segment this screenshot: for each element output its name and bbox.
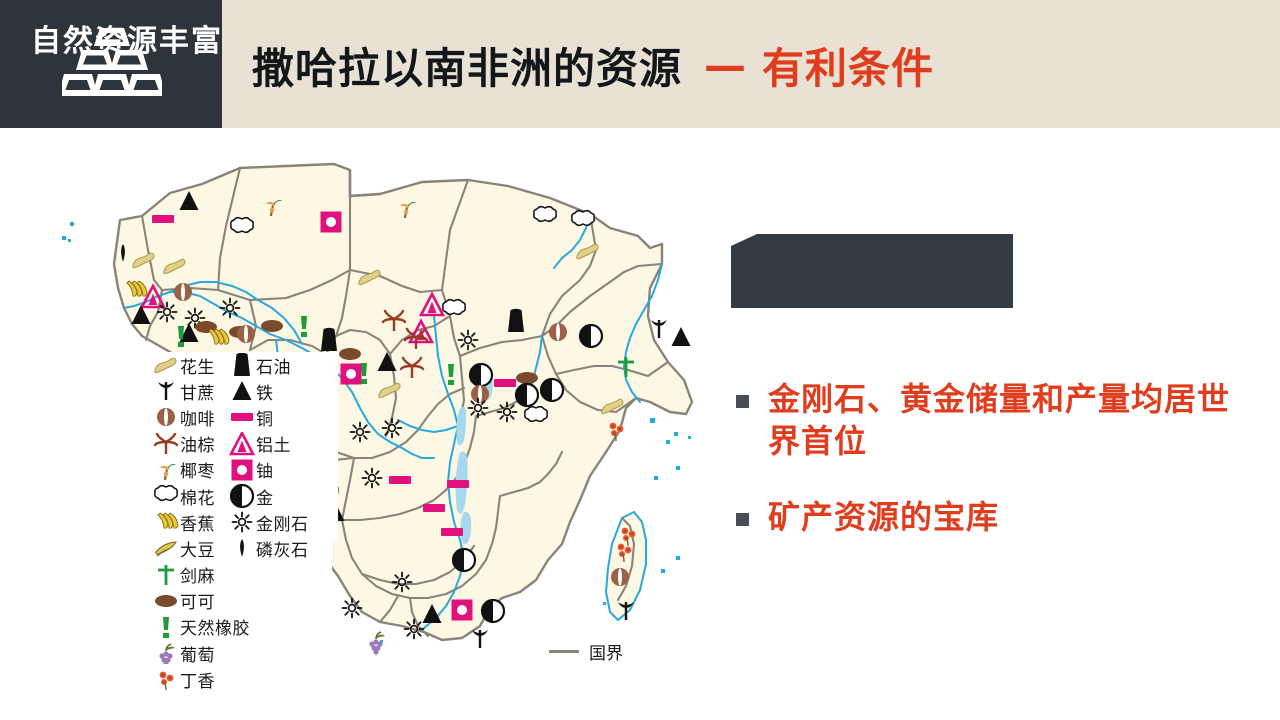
legend-item-phosphate: 磷灰石 <box>228 535 309 561</box>
sugarcane-icon <box>152 380 180 402</box>
iron-icon <box>228 380 256 402</box>
legend-label: 棉花 <box>180 484 215 509</box>
legend-item-iron: 铁 <box>228 378 309 404</box>
legend-label: 咖啡 <box>180 405 215 430</box>
grape-icon <box>152 642 180 664</box>
legend-label: 金刚石 <box>256 510 309 535</box>
diamond-icon <box>228 511 256 533</box>
page-title: 撒哈拉以南非洲的资源 — 有利条件 <box>252 30 934 100</box>
legend-item-diamond: 金刚石 <box>228 509 309 535</box>
legend-label: 花生 <box>180 353 215 378</box>
legend-label: 椰枣 <box>180 457 215 482</box>
legend-label: 油棕 <box>180 431 215 456</box>
bullet-text: 金刚石、黄金储量和产量均居世界首位 <box>768 378 1238 462</box>
callout-banner <box>731 234 1013 308</box>
legend-label: 金 <box>256 484 274 509</box>
boundary-key-label: 国界 <box>589 639 623 664</box>
legend-label: 剑麻 <box>180 562 215 587</box>
legend-item-uranium: 铀 <box>228 457 309 483</box>
map-boundary-key: 国界 <box>545 637 627 666</box>
title-accent-text: 有利条件 <box>762 35 934 96</box>
legend-item-bauxite: 铝土 <box>228 431 309 457</box>
legend-label: 铀 <box>256 457 274 482</box>
natural-rubber-icon <box>152 616 180 638</box>
legend-label: 香蕉 <box>180 510 215 535</box>
legend-item-clove: 丁香 <box>152 666 250 692</box>
square-bullet-icon <box>736 513 749 526</box>
map-svg <box>50 140 720 685</box>
africa-resource-map <box>50 140 720 685</box>
callout-label: 自然资源丰富 <box>31 16 223 60</box>
boundary-line-icon <box>549 650 579 653</box>
oil-palm-icon <box>152 433 180 455</box>
copper-icon <box>228 406 256 428</box>
legend-item-gold: 金 <box>228 483 309 509</box>
legend-minerals-panel: 石油 铁 铜 铝土 铀 <box>228 352 338 542</box>
phosphate-icon <box>228 537 256 559</box>
square-bullet-icon <box>736 395 749 408</box>
peanut-icon <box>152 354 180 376</box>
uranium-icon <box>228 458 256 482</box>
clove-icon <box>152 668 180 690</box>
legend-label: 葡萄 <box>180 641 215 666</box>
legend-item-copper: 铜 <box>228 404 309 430</box>
legend-label: 天然橡胶 <box>180 614 250 639</box>
legend-item-natural-rubber: 天然橡胶 <box>152 614 250 640</box>
bullet-list: 金刚石、黄金储量和产量均居世界首位 矿产资源的宝库 <box>736 378 1256 573</box>
date-palm-icon <box>152 459 180 481</box>
legend-item-sisal: 剑麻 <box>152 562 250 588</box>
legend-label: 石油 <box>256 353 291 378</box>
legend-item-grape: 葡萄 <box>152 640 250 666</box>
petroleum-icon <box>228 353 256 377</box>
coffee-icon <box>152 406 180 428</box>
bauxite-icon <box>228 432 256 456</box>
gold-icon <box>228 484 256 508</box>
title-dash: — <box>704 41 746 90</box>
cocoa-icon <box>152 590 180 612</box>
legend-label: 甘蔗 <box>180 379 215 404</box>
soybean-icon <box>152 537 180 559</box>
legend-label: 可可 <box>180 588 215 613</box>
legend-label: 铜 <box>256 405 274 430</box>
legend-label: 铝土 <box>256 431 291 456</box>
legend-item-cocoa: 可可 <box>152 588 250 614</box>
title-main-text: 撒哈拉以南非洲的资源 <box>252 35 682 96</box>
legend-label: 丁香 <box>180 667 215 692</box>
bullet-item-1: 金刚石、黄金储量和产量均居世界首位 <box>736 378 1256 462</box>
legend-label: 铁 <box>256 379 274 404</box>
banana-icon <box>152 511 180 533</box>
cotton-icon <box>152 485 180 507</box>
legend-item-petroleum: 石油 <box>228 352 309 378</box>
bullet-text: 矿产资源的宝库 <box>768 496 999 538</box>
bullet-item-2: 矿产资源的宝库 <box>736 496 1256 538</box>
legend-mineral-column: 石油 铁 铜 铝土 铀 <box>228 352 309 562</box>
legend-label: 磷灰石 <box>256 536 309 561</box>
sisal-icon <box>152 564 180 586</box>
legend-label: 大豆 <box>180 536 215 561</box>
